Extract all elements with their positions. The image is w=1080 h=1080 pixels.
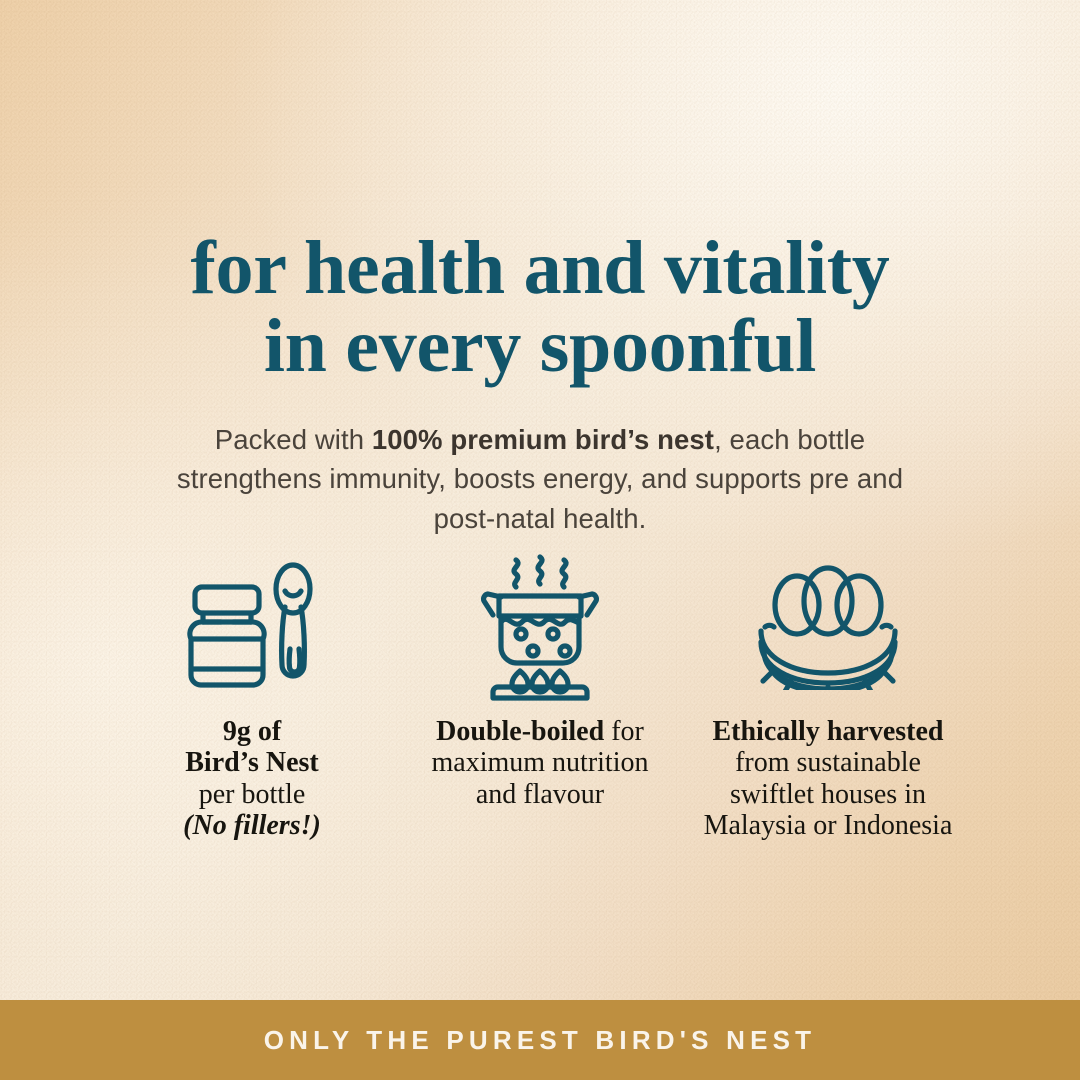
caption-line: from sustainable [735,747,921,778]
caption-line: Malaysia or Indonesia [704,810,953,841]
caption-line: Double-boiled [436,716,604,747]
bottom-banner: ONLY THE PUREST BIRD'S NEST [0,1000,1080,1080]
jar-and-spoon-icon [177,552,327,702]
feature-caption: 9g of Bird’s Nest per bottle (No fillers… [183,716,321,841]
poster-canvas: for health and vitality in every spoonfu… [0,0,1080,1080]
feature-caption: Double-boiled for maximum nutrition and … [432,716,649,810]
feature-caption: Ethically harvested from sustainable swi… [704,716,953,841]
caption-line: swiftlet houses in [730,779,926,810]
birds-nest-eggs-icon [745,552,911,702]
caption-line: (No fillers!) [183,810,321,841]
poster-content: for health and vitality in every spoonfu… [0,0,1080,1080]
intro-text-part-1: Packed with [215,424,372,455]
feature-item-double-boiled: Double-boiled for maximum nutrition and … [396,552,684,841]
caption-line: 9g of [223,716,281,747]
caption-line: and flavour [476,779,604,810]
feature-item-bird-nest-content: 9g of Bird’s Nest per bottle (No fillers… [108,552,396,841]
page-title: for health and vitality in every spoonfu… [0,229,1080,386]
caption-line: Ethically harvested [712,716,943,747]
caption-line: maximum nutrition [432,747,649,778]
intro-text-emphasis: 100% premium bird’s nest [372,424,714,455]
feature-item-ethically-harvested: Ethically harvested from sustainable swi… [684,552,972,841]
banner-tagline: ONLY THE PUREST BIRD'S NEST [264,1025,817,1056]
intro-paragraph: Packed with 100% premium bird’s nest, ea… [170,420,910,540]
feature-list: 9g of Bird’s Nest per bottle (No fillers… [0,552,1080,841]
caption-line-suffix: for [604,716,644,747]
caption-line: Bird’s Nest [185,747,319,778]
caption-line: per bottle [199,779,306,810]
boiling-pot-icon [465,552,615,702]
